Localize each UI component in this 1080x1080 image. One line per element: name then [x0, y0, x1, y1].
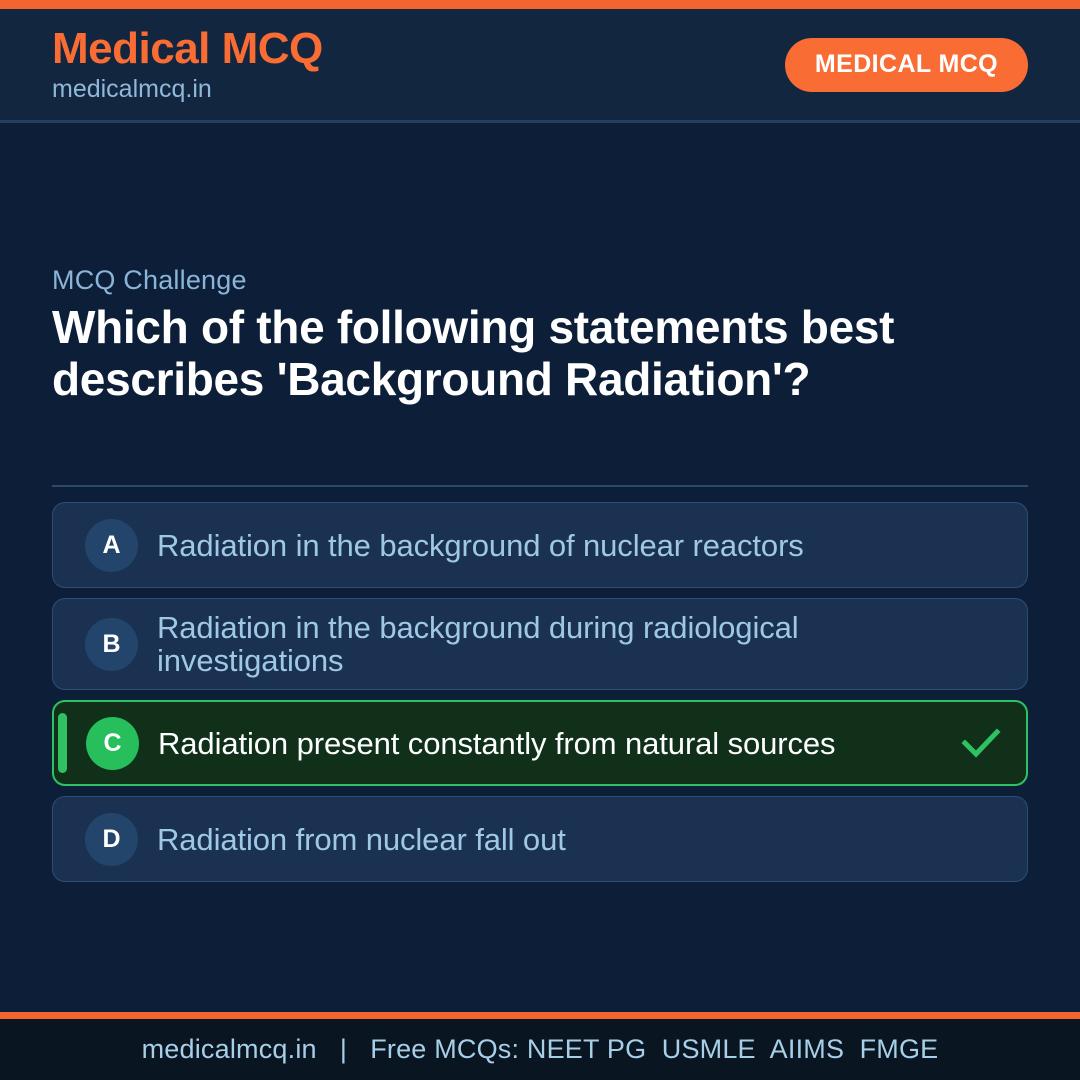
- question-divider: [52, 485, 1028, 487]
- medical-mcq-badge: MEDICAL MCQ: [785, 38, 1028, 92]
- brand-subtitle: medicalmcq.in: [52, 77, 323, 102]
- footer-text: medicalmcq.in | Free MCQs: NEET PG USMLE…: [142, 1034, 939, 1065]
- option-text: Radiation from nuclear fall out: [157, 823, 959, 856]
- mcq-card: Medical MCQ medicalmcq.in MEDICAL MCQ MC…: [0, 0, 1080, 1080]
- option-c[interactable]: C Radiation present constantly from natu…: [52, 700, 1028, 786]
- option-letter-badge: C: [86, 717, 139, 770]
- option-b[interactable]: B Radiation in the background during rad…: [52, 598, 1028, 690]
- options-list: A Radiation in the background of nuclear…: [52, 502, 1028, 882]
- option-a[interactable]: A Radiation in the background of nuclear…: [52, 502, 1028, 588]
- footer: medicalmcq.in | Free MCQs: NEET PG USMLE…: [0, 1019, 1080, 1080]
- option-text: Radiation in the background during radio…: [157, 611, 959, 677]
- question-text: Which of the following statements best d…: [52, 301, 912, 405]
- check-icon: [958, 727, 1004, 759]
- option-d[interactable]: D Radiation from nuclear fall out: [52, 796, 1028, 882]
- option-letter-badge: D: [85, 813, 138, 866]
- kicker-label: MCQ Challenge: [52, 265, 247, 296]
- option-text: Radiation present constantly from natura…: [158, 727, 958, 760]
- brand-title: Medical MCQ: [52, 27, 323, 71]
- correct-accent-bar: [58, 713, 67, 773]
- option-letter-badge: B: [85, 618, 138, 671]
- option-letter-badge: A: [85, 519, 138, 572]
- header: Medical MCQ medicalmcq.in MEDICAL MCQ: [0, 9, 1080, 123]
- brand: Medical MCQ medicalmcq.in: [52, 27, 323, 102]
- option-text: Radiation in the background of nuclear r…: [157, 529, 959, 562]
- top-accent-rule: [0, 0, 1080, 9]
- main-content: MCQ Challenge Which of the following sta…: [0, 123, 1080, 1012]
- footer-accent-rule: [0, 1012, 1080, 1019]
